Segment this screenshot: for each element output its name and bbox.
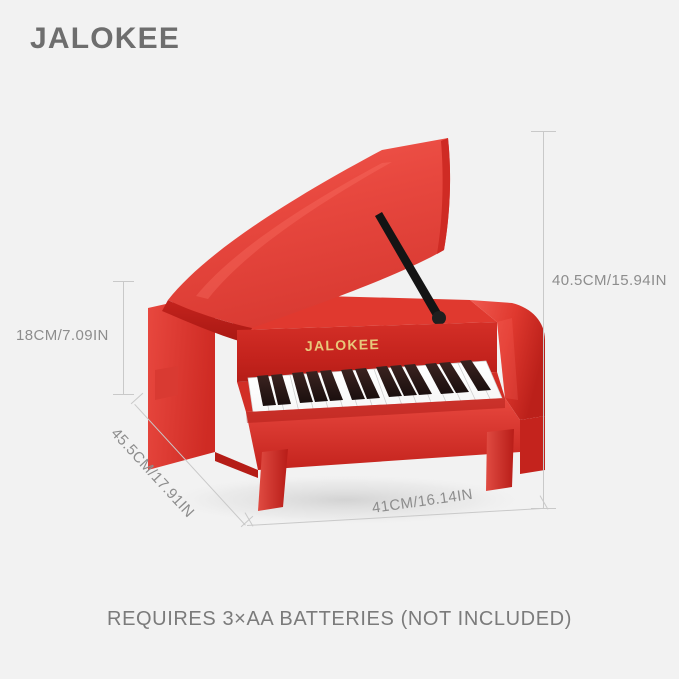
lid-height-dimension-line — [123, 281, 124, 394]
piano-leg-right-rear — [520, 416, 545, 474]
product-shadow — [160, 474, 530, 526]
piano-logo-text: JALOKEE — [305, 336, 381, 354]
piano-leg-front-right — [486, 429, 514, 491]
height-dimension-label: 40.5CM/15.94IN — [552, 272, 667, 289]
height-dimension-cap-top — [531, 131, 556, 132]
battery-requirement-note: REQUIRES 3×AA BATTERIES (NOT INCLUDED) — [0, 608, 679, 631]
product-image-canvas: JALOKEE — [0, 0, 679, 679]
lid-height-dimension-cap-bottom — [113, 394, 134, 395]
lid-height-dimension-cap-top — [113, 281, 134, 282]
lid-height-dimension-label: 18CM/7.09IN — [16, 327, 109, 344]
prop-rod-foot — [432, 311, 446, 325]
height-dimension-line — [543, 131, 544, 509]
piano-case-left-skirt — [215, 452, 258, 478]
piano-leg-back-left — [155, 366, 178, 400]
